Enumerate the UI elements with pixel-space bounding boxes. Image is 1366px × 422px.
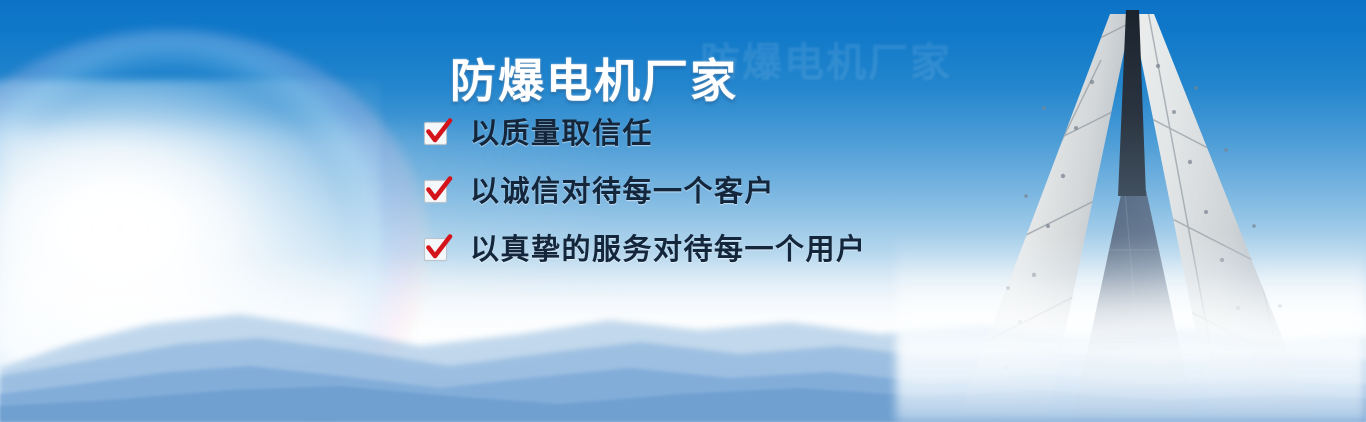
red-checkmark-icon: [422, 176, 452, 206]
list-item-label: 以质量取信任: [470, 119, 653, 148]
concrete-monument-image: [896, 0, 1366, 422]
list-item-label: 以真挚的服务对待每一个用户: [470, 235, 867, 264]
list-item: 以真挚的服务对待每一个用户: [422, 220, 867, 278]
red-checkmark-icon: [422, 118, 452, 148]
page-title: 防爆电机厂家: [450, 55, 738, 108]
list-item: 以诚信对待每一个客户: [422, 162, 867, 220]
feature-bullet-list: 以质量取信任 以诚信对待每一个客户 以真挚的服务对待每一个用户: [422, 104, 867, 278]
promo-banner: 防爆电机厂家 防爆电机厂家 以质量取信任 以诚信对待每一个客户: [0, 0, 1366, 422]
list-item-label: 以诚信对待每一个客户: [470, 177, 775, 206]
list-item: 以质量取信任: [422, 104, 867, 162]
red-checkmark-icon: [422, 234, 452, 264]
